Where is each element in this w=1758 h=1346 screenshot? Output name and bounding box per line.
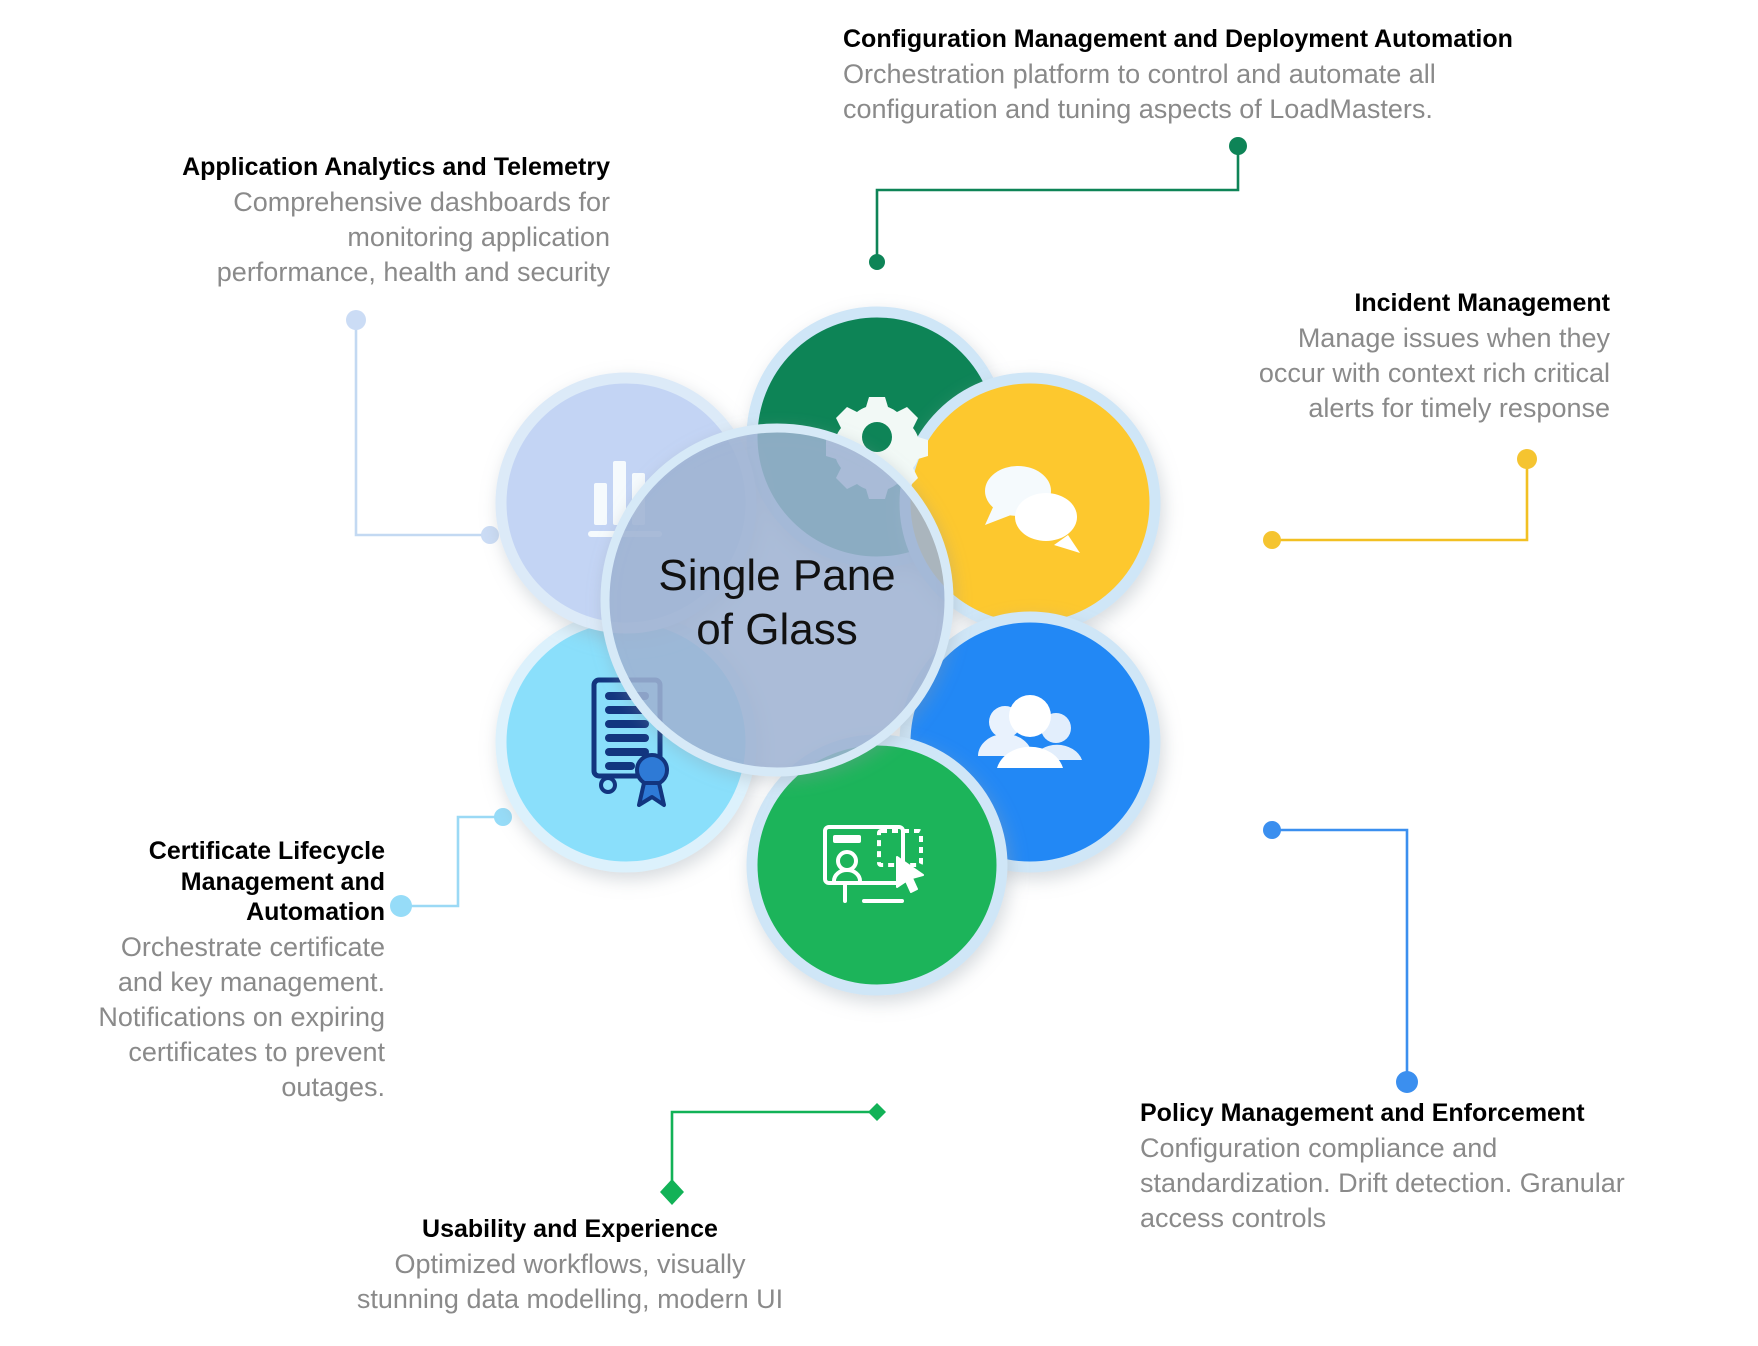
center-label-line2: of Glass <box>597 603 957 657</box>
center-label: Single Pane of Glass <box>597 549 957 656</box>
center-label-line1: Single Pane <box>597 549 957 603</box>
petal-flower <box>0 0 1758 1346</box>
petal-usability-and-experience[interactable] <box>752 740 1002 990</box>
diagram-canvas: Single Pane of Glass Configuration Manag… <box>0 0 1758 1346</box>
